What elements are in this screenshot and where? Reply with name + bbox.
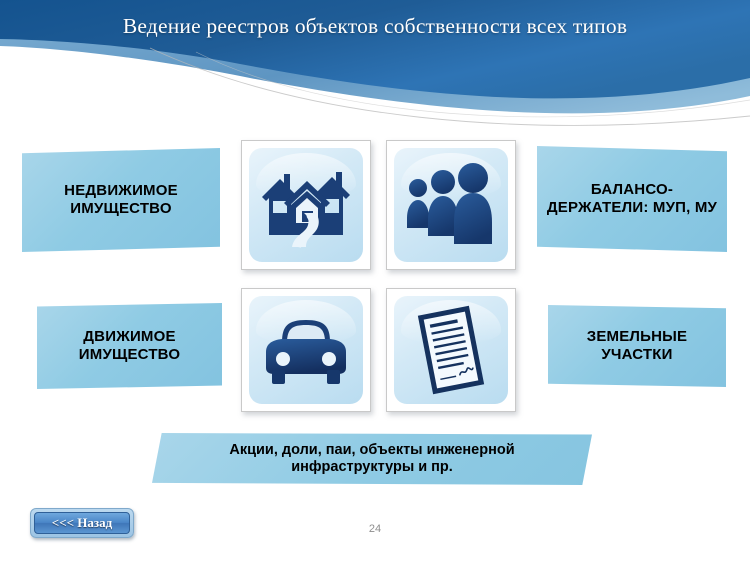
label-real-estate-text: НЕДВИЖИМОЕ ИМУЩЕСТВО <box>22 182 220 217</box>
page-title: Ведение реестров объектов собственности … <box>0 14 750 39</box>
label-land-plots[interactable]: ЗЕМЕЛЬНЫЕ УЧАСТКИ <box>548 305 726 387</box>
banner-other-assets-text: Акции, доли, паи, объекты инженерной инф… <box>152 442 592 477</box>
tile-real-estate-surface <box>249 148 363 262</box>
tile-people[interactable] <box>386 140 516 270</box>
tile-vehicle[interactable] <box>241 288 371 412</box>
label-balance-holders[interactable]: БАЛАНСО-ДЕРЖАТЕЛИ: МУП, МУ <box>537 146 727 252</box>
label-movable-property-text: ДВИЖИМОЕ ИМУЩЕСТВО <box>37 328 222 363</box>
tile-document-surface <box>394 296 508 404</box>
tile-real-estate[interactable] <box>241 140 371 270</box>
label-real-estate[interactable]: НЕДВИЖИМОЕ ИМУЩЕСТВО <box>22 148 220 252</box>
label-movable-property[interactable]: ДВИЖИМОЕ ИМУЩЕСТВО <box>37 303 222 389</box>
banner-other-assets[interactable]: Акции, доли, паи, объекты инженерной инф… <box>152 433 592 485</box>
header-banner: Ведение реестров объектов собственности … <box>0 0 750 130</box>
document-icon <box>405 302 497 398</box>
tile-people-surface <box>394 148 508 262</box>
car-icon <box>258 312 354 388</box>
label-balance-holders-text: БАЛАНСО-ДЕРЖАТЕЛИ: МУП, МУ <box>537 181 727 216</box>
label-land-plots-text: ЗЕМЕЛЬНЫЕ УЧАСТКИ <box>548 328 726 363</box>
people-group-icon <box>405 162 497 248</box>
page-number: 24 <box>0 523 750 535</box>
tile-vehicle-surface <box>249 296 363 404</box>
houses-icon <box>258 161 354 249</box>
tile-document[interactable] <box>386 288 516 412</box>
slide-canvas: Ведение реестров объектов собственности … <box>0 0 750 562</box>
